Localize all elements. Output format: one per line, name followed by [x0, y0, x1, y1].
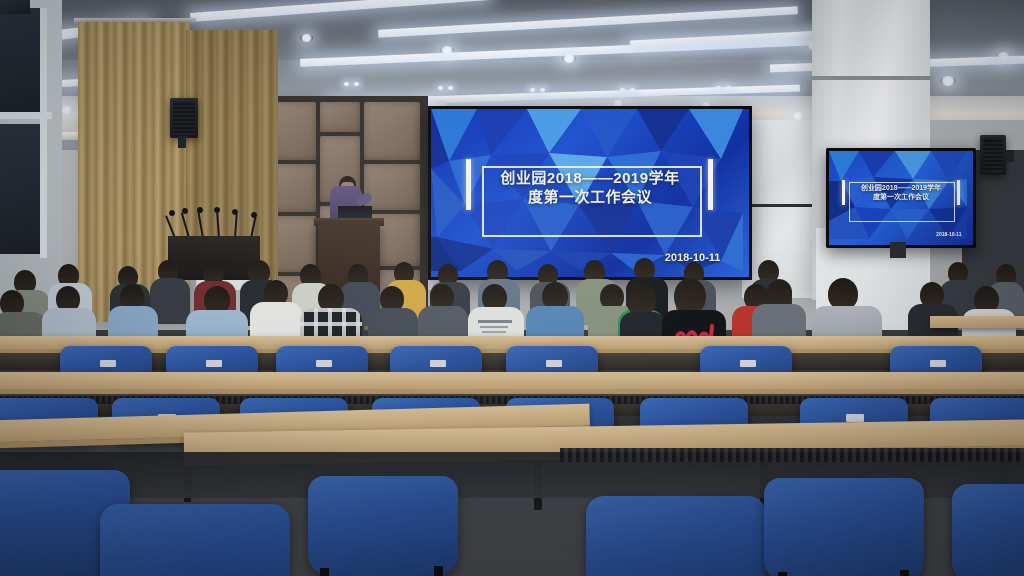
slide-title-line-2: 度第一次工作会议: [431, 188, 749, 207]
ceiling-downlight: [940, 76, 956, 86]
ceiling-downlight: [440, 46, 454, 55]
acoustic-panel: [364, 102, 420, 160]
chair-label-sticker: [206, 360, 222, 367]
chair[interactable]: [308, 476, 458, 576]
speaker-bracket: [178, 136, 186, 148]
ceiling-downlight: [562, 54, 576, 63]
acoustic-panel: [364, 164, 420, 210]
speaker-grill: [173, 101, 195, 135]
ceiling-spotlight: [438, 86, 443, 90]
chair-backrest: [952, 484, 1024, 576]
desk-mesh-panel: [560, 448, 1024, 462]
tv-title-line-2: 度第一次工作会议: [829, 193, 973, 202]
speaker-bracket: [1006, 150, 1014, 162]
microphone-head: [182, 208, 188, 214]
gooseneck-microphone: [234, 213, 238, 238]
chair-label-sticker: [430, 360, 446, 367]
ceiling-spotlight: [540, 88, 545, 92]
chair-backrest: [308, 476, 458, 576]
window-glass: [0, 124, 40, 254]
chair-backrest: [100, 504, 290, 576]
column-seam: [812, 76, 930, 80]
chair[interactable]: [952, 484, 1024, 576]
microphone-head: [214, 207, 220, 213]
microphone-head: [169, 210, 175, 216]
tv-title-line-1: 创业园2018——2019学年: [829, 184, 973, 193]
right-wall-speaker: [980, 135, 1006, 175]
chair-leg: [778, 572, 787, 576]
chair[interactable]: [100, 504, 290, 576]
slide-title: 创业园2018——2019学年 度第一次工作会议: [431, 169, 749, 207]
microphone-head: [251, 212, 257, 218]
ceiling-spotlight: [354, 82, 359, 86]
desk-surface: [0, 372, 1024, 389]
acoustic-panel: [320, 102, 360, 132]
window-glass: [0, 0, 30, 14]
microphone-head: [232, 209, 238, 215]
chair-leg: [900, 570, 909, 576]
microphone-head: [197, 207, 203, 213]
chair[interactable]: [586, 496, 766, 576]
wall-mounted-tv[interactable]: 创业园2018——2019学年 度第一次工作会议 2018-10-11: [826, 148, 976, 248]
tv-surface: 创业园2018——2019学年 度第一次工作会议 2018-10-11: [829, 151, 973, 245]
ceiling-spotlight: [530, 88, 535, 92]
ceiling-spotlight: [726, 86, 731, 90]
tv-date: 2018-10-11: [936, 232, 961, 238]
chair-backrest: [586, 496, 766, 576]
ceiling-downlight: [792, 112, 804, 120]
window-mullion: [40, 8, 47, 258]
left-wall-speaker: [170, 98, 198, 138]
ceiling-downlight: [996, 52, 1011, 62]
chair-label-sticker: [100, 360, 116, 367]
ceiling-spotlight: [344, 82, 349, 86]
ceiling-spotlight: [630, 88, 635, 92]
chair-leg: [434, 566, 443, 576]
tv-title: 创业园2018——2019学年 度第一次工作会议: [829, 184, 973, 202]
ceiling-spotlight: [716, 86, 721, 90]
side-desk: [930, 316, 1024, 328]
ceiling-spotlight: [620, 88, 625, 92]
ceiling-downlight: [300, 34, 313, 42]
chair-label-sticker: [740, 360, 756, 367]
ceiling-spotlight: [448, 86, 453, 90]
chair-backrest: [764, 478, 924, 576]
marble-panel-seam: [742, 204, 820, 207]
slide-title-line-1: 创业园2018——2019学年: [431, 169, 749, 188]
chair-row-foreground: [0, 466, 1024, 576]
chair-label-sticker: [316, 360, 332, 367]
chair-label-sticker: [846, 414, 864, 422]
chair[interactable]: [764, 478, 924, 576]
gooseneck-microphone: [250, 216, 257, 238]
chair-leg: [320, 568, 329, 576]
speaker-grill: [983, 138, 1003, 172]
acoustic-panel: [272, 102, 316, 160]
conference-room-photo: 创业园2018——2019学年 度第一次工作会议 2018-10-11: [0, 0, 1024, 576]
acoustic-panel: [272, 164, 316, 212]
chair-label-sticker: [546, 360, 562, 367]
chair-label-sticker: [930, 360, 946, 367]
